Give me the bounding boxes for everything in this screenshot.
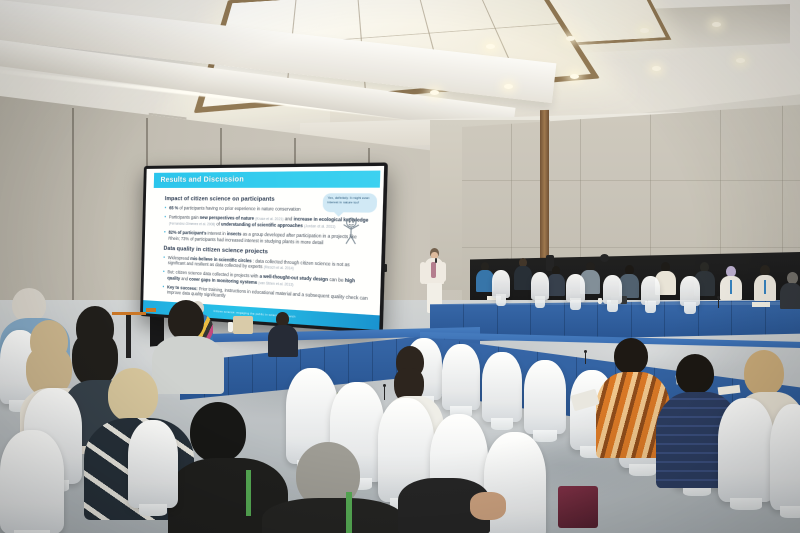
chair[interactable]	[641, 276, 660, 305]
microphone-icon	[435, 258, 437, 263]
bullet-citation: (Fernandez-Gimenez et al. 2008)	[169, 222, 216, 227]
chair[interactable]	[718, 398, 774, 502]
downlight-icon	[652, 66, 661, 71]
paper-document	[752, 302, 770, 307]
bullet-dot-icon: •	[164, 214, 166, 227]
stanchion-belt	[112, 312, 146, 315]
chair[interactable]	[524, 360, 566, 434]
slide-title-banner: Results and Discussion	[154, 171, 381, 188]
bullet-text: of participants having no prior experien…	[179, 205, 300, 212]
bullet-text: and	[285, 216, 293, 222]
stanchion-belt	[146, 308, 156, 312]
bullet-text: of	[216, 222, 220, 227]
downlight-icon	[640, 28, 649, 33]
downlight-icon	[736, 58, 745, 63]
bullet-dot-icon: •	[163, 255, 165, 267]
table-microphone-icon	[718, 298, 719, 308]
speech-bubble: Yes, definitely. It might even interest …	[323, 193, 378, 212]
bullet-dot-icon: •	[164, 230, 166, 241]
chair[interactable]	[0, 430, 64, 533]
bullet-citation: (Jordan et al. 2011)	[304, 224, 335, 229]
speech-bubble-text: Yes, definitely. It might even interest …	[327, 195, 369, 204]
chair[interactable]	[492, 270, 510, 298]
bullet-lead: understanding of scientific approaches	[221, 222, 303, 229]
downlight-icon	[570, 74, 579, 79]
downlight-icon	[712, 22, 721, 27]
bullet-citation: (Riesch et al. 2014)	[264, 265, 294, 271]
chair[interactable]	[442, 344, 480, 410]
downlight-icon	[566, 36, 575, 41]
chair[interactable]	[680, 276, 700, 306]
bullet-dot-icon: •	[163, 269, 165, 281]
handbag-icon	[558, 486, 598, 528]
downlight-icon	[430, 90, 439, 95]
bullet-text: Participants gain	[169, 214, 199, 220]
table-microphone-icon	[585, 352, 586, 364]
chair[interactable]	[770, 404, 800, 510]
chair[interactable]	[603, 275, 622, 304]
bullet-text: and	[181, 276, 188, 281]
slide-title: Results and Discussion	[160, 176, 244, 184]
chair[interactable]	[128, 420, 178, 508]
cup-icon	[228, 322, 233, 332]
slide-section-heading-1: Impact of citizen science on participant…	[165, 196, 275, 203]
chair[interactable]	[566, 274, 585, 302]
bullet-dot-icon: •	[162, 284, 164, 295]
chair[interactable]	[531, 272, 549, 300]
downlight-icon	[504, 84, 513, 89]
mascot-character-icon	[339, 216, 363, 246]
bullet-lead: 65 %	[169, 205, 178, 210]
downlight-icon	[486, 44, 495, 49]
bullet-dot-icon: •	[165, 205, 167, 211]
wall-speaker-icon	[600, 254, 609, 262]
cup-icon	[598, 298, 602, 304]
stanchion-post	[126, 312, 131, 358]
conference-room-screenshot: Results and Discussion Impact of citizen…	[0, 0, 800, 533]
bullet-text: can be	[329, 277, 343, 283]
slide-section-heading-2: Data quality in citizen science projects	[163, 246, 268, 256]
bullet-lead: new perspectives of nature	[200, 215, 254, 221]
bullet-citation: (van Strien et al. 2013)	[258, 280, 293, 286]
paper-bag	[233, 316, 253, 334]
chair[interactable]	[482, 352, 522, 422]
bullet-citation: (Kruse et al. 2021)	[255, 217, 283, 222]
table-microphone-icon	[384, 386, 385, 400]
